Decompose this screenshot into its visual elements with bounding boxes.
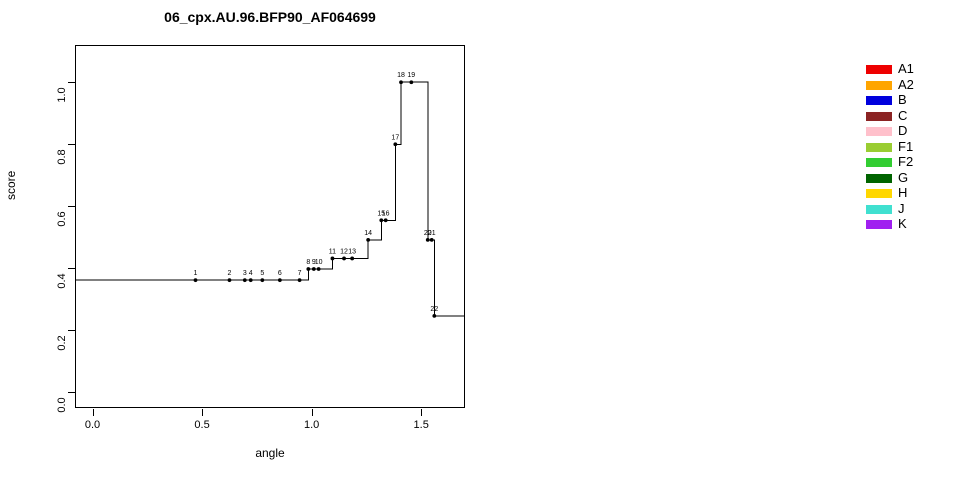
legend-item-j[interactable]: J <box>866 202 956 218</box>
x-tick-mark <box>421 409 422 416</box>
legend-item-f1[interactable]: F1 <box>866 140 956 156</box>
legend-item-a1[interactable]: A1 <box>866 62 956 78</box>
data-point-label: 19 <box>407 72 415 79</box>
x-tick-label: 1.5 <box>401 419 441 431</box>
data-point-label: 14 <box>364 230 372 237</box>
data-point <box>317 267 321 271</box>
data-point <box>312 267 316 271</box>
x-tick-label: 0.5 <box>182 419 222 431</box>
data-point-label: 4 <box>249 270 253 277</box>
y-tick-label: 0.2 <box>56 328 68 358</box>
step-plot-svg: 12345678910111213141516171819202122 <box>75 45 465 408</box>
legend-label: B <box>898 92 907 107</box>
data-point-label: 5 <box>260 270 264 277</box>
legend-item-k[interactable]: K <box>866 217 956 233</box>
y-tick-label: 1.0 <box>56 80 68 110</box>
legend-item-b[interactable]: B <box>866 93 956 109</box>
data-point-label: 16 <box>382 210 390 217</box>
legend-color-swatch <box>866 112 892 121</box>
y-tick-label: 0.0 <box>56 390 68 420</box>
legend-label: H <box>898 185 907 200</box>
legend-label: G <box>898 170 908 185</box>
legend-label: F1 <box>898 139 913 154</box>
data-point <box>399 80 403 84</box>
mosaic-row-label: 11 <box>953 270 960 280</box>
legend-color-swatch <box>866 205 892 214</box>
legend-label: D <box>898 123 907 138</box>
legend-color-swatch <box>866 174 892 183</box>
data-point <box>278 278 282 282</box>
y-axis-label: score <box>4 171 18 200</box>
legend-label: A1 <box>898 61 914 76</box>
data-point <box>298 278 302 282</box>
x-tick-mark <box>312 409 313 416</box>
data-point-label: 11 <box>329 248 336 255</box>
data-point <box>306 267 310 271</box>
legend-label: F2 <box>898 154 913 169</box>
data-point <box>350 257 354 261</box>
data-point <box>228 278 232 282</box>
mosaic-row-label: 10 <box>953 281 960 291</box>
mosaic-row-label: 6 <box>953 328 960 338</box>
legend-item-c[interactable]: C <box>866 109 956 125</box>
legend-item-h[interactable]: H <box>866 186 956 202</box>
legend-item-g[interactable]: G <box>866 171 956 187</box>
data-point-label: 21 <box>428 230 436 237</box>
y-tick-mark <box>68 268 75 269</box>
data-point <box>249 278 253 282</box>
data-point <box>243 278 247 282</box>
legend-color-swatch <box>866 143 892 152</box>
data-point <box>426 238 430 242</box>
y-tick-mark <box>68 330 75 331</box>
data-point <box>342 257 346 261</box>
mosaic-row-label: 8 <box>953 304 960 314</box>
mosaic-row-label: 13 <box>953 246 960 256</box>
mosaic-row-label: 2 <box>953 374 960 384</box>
left-panel-score-angle: 12345678910111213141516171819202122 0.00… <box>0 0 480 480</box>
legend-item-f2[interactable]: F2 <box>866 155 956 171</box>
score-step-line <box>75 82 465 316</box>
y-tick-mark <box>68 206 75 207</box>
legend-item-a2[interactable]: A2 <box>866 78 956 94</box>
legend-label: A2 <box>898 77 914 92</box>
x-axis-label: angle <box>75 446 465 460</box>
y-tick-label: 0.4 <box>56 266 68 296</box>
subtype-legend: A1A2BCDF1F2GHJK <box>866 62 956 233</box>
legend-label: C <box>898 108 907 123</box>
x-tick-mark <box>202 409 203 416</box>
mosaic-row-label: 5 <box>953 339 960 349</box>
x-tick-mark <box>93 409 94 416</box>
data-point-label: 13 <box>348 248 356 255</box>
data-point <box>194 278 198 282</box>
data-point <box>331 257 335 261</box>
data-point-label: 8 <box>306 259 310 266</box>
legend-color-swatch <box>866 127 892 136</box>
legend-label: J <box>898 201 905 216</box>
data-point-label: 18 <box>397 72 405 79</box>
mosaic-row-label: 12 <box>953 258 960 268</box>
legend-color-swatch <box>866 81 892 90</box>
figure-root: 06_cpx.AU.96.BFP90_AF064699 123456789101… <box>0 0 960 480</box>
y-tick-mark <box>68 144 75 145</box>
mosaic-row-label: 1 <box>953 386 960 396</box>
data-point <box>430 238 434 242</box>
y-tick-label: 0.8 <box>56 142 68 172</box>
legend-color-swatch <box>866 158 892 167</box>
legend-label: K <box>898 216 907 231</box>
data-point-label: 22 <box>430 306 438 313</box>
left-plot-area: 12345678910111213141516171819202122 <box>75 45 465 408</box>
legend-color-swatch <box>866 65 892 74</box>
y-tick-label: 0.6 <box>56 204 68 234</box>
legend-color-swatch <box>866 96 892 105</box>
data-point-label: 2 <box>228 270 232 277</box>
y-tick-mark <box>68 392 75 393</box>
data-point-label: 12 <box>340 248 348 255</box>
data-point-label: 17 <box>391 134 399 141</box>
y-tick-mark <box>68 82 75 83</box>
data-point <box>379 218 383 222</box>
right-x-tick-label: 0 <box>956 417 960 429</box>
x-tick-label: 0.0 <box>73 419 113 431</box>
mosaic-row-label: 14 <box>953 235 960 245</box>
data-point <box>409 80 413 84</box>
data-point-label: 3 <box>243 270 247 277</box>
data-point <box>432 314 436 318</box>
legend-color-swatch <box>866 220 892 229</box>
data-point-label: 1 <box>194 270 198 277</box>
data-point-label: 6 <box>278 270 282 277</box>
data-point-label: 10 <box>315 259 323 266</box>
legend-item-d[interactable]: D <box>866 124 956 140</box>
data-point <box>384 218 388 222</box>
legend-color-swatch <box>866 189 892 198</box>
data-point <box>260 278 264 282</box>
data-point-label: 7 <box>298 270 302 277</box>
mosaic-row-label: 9 <box>953 293 960 303</box>
mosaic-row-label: 3 <box>953 362 960 372</box>
mosaic-row-label: 4 <box>953 351 960 361</box>
data-point <box>366 238 370 242</box>
mosaic-row-label: 7 <box>953 316 960 326</box>
x-tick-label: 1.0 <box>292 419 332 431</box>
data-point <box>393 142 397 146</box>
